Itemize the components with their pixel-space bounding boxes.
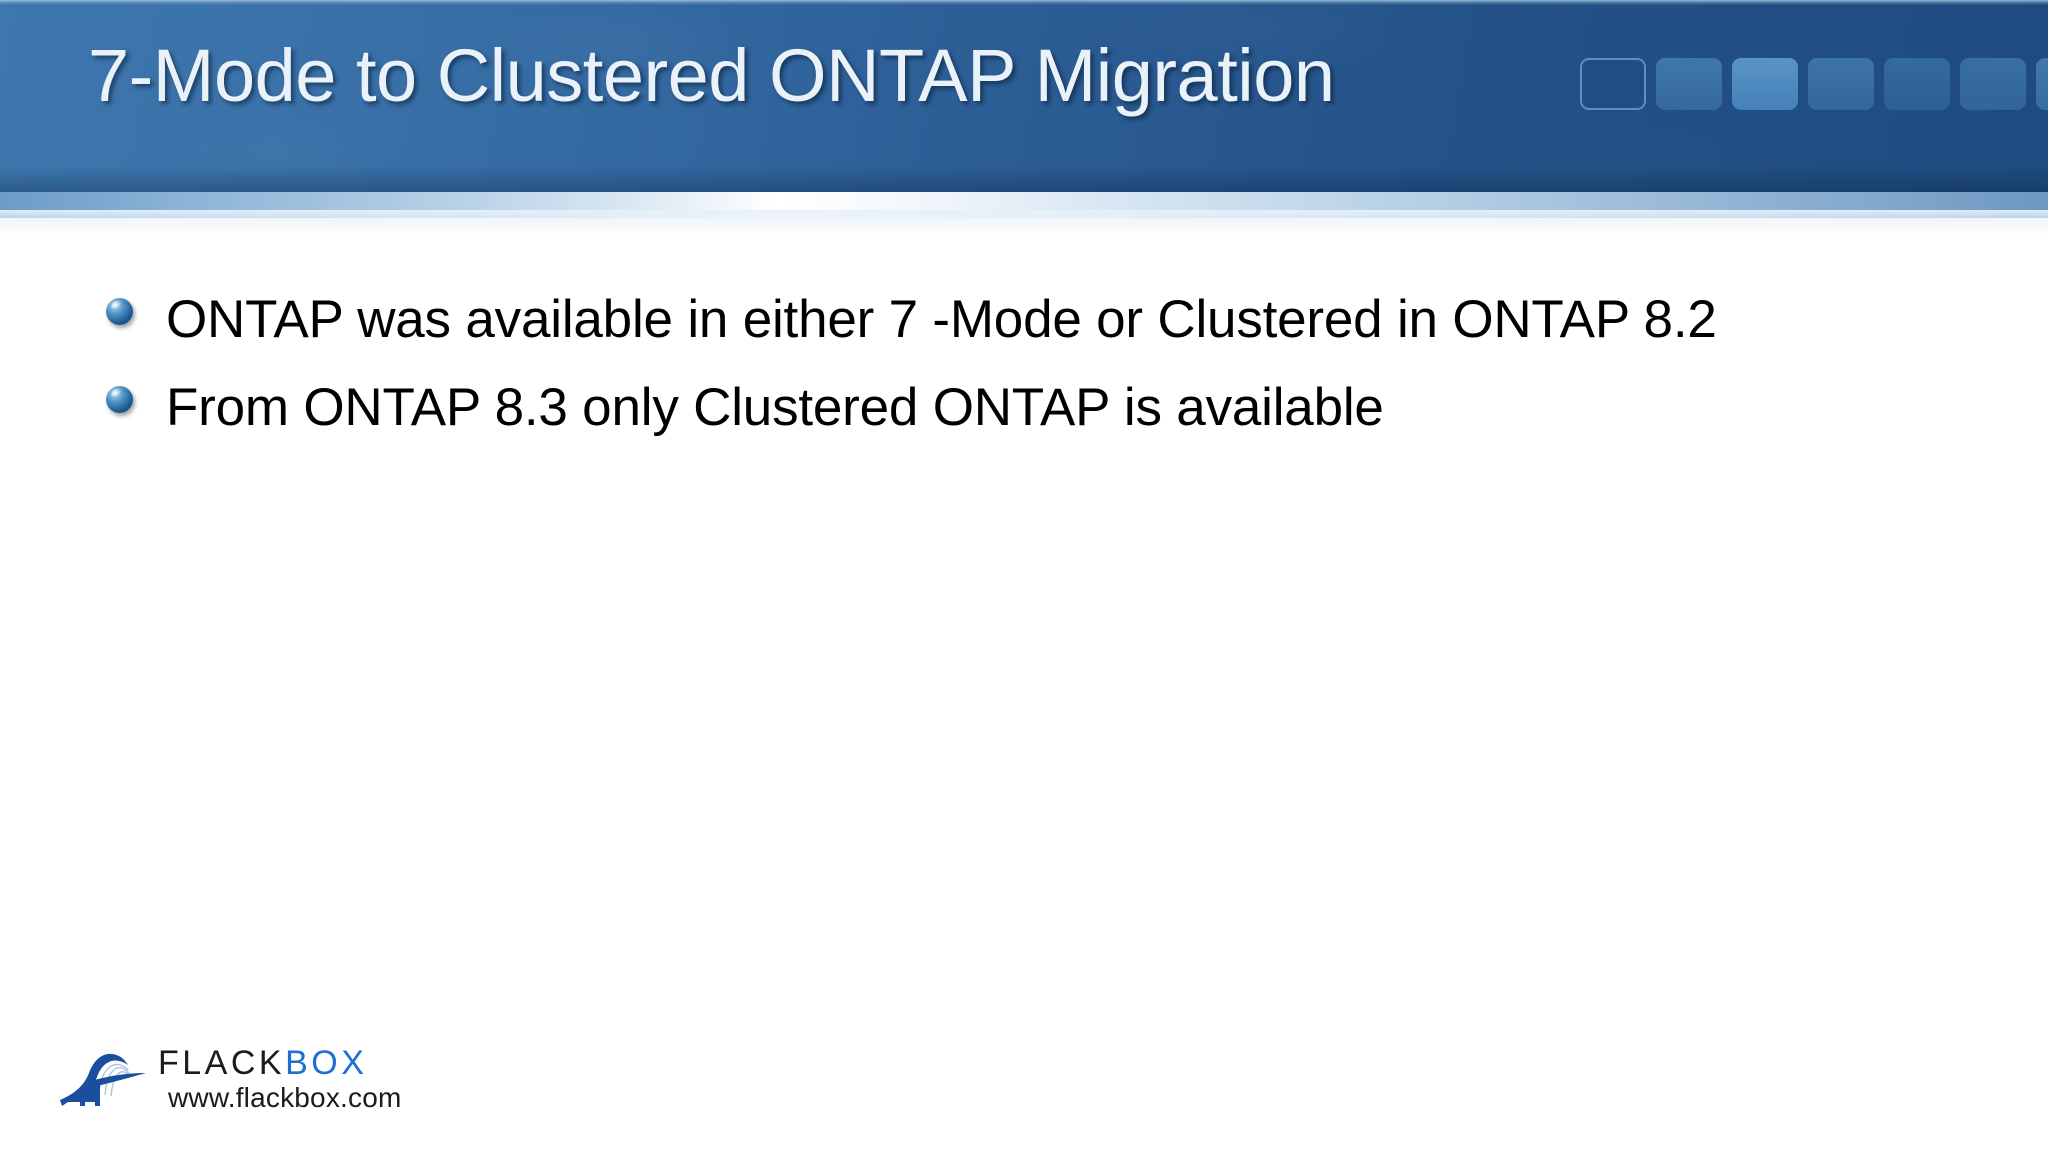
flackbox-logo[interactable]: FLACKBOX www.flackbox.com: [58, 1042, 398, 1122]
list-item: From ONTAP 8.3 only Clustered ONTAP is a…: [104, 370, 1954, 446]
list-item: ONTAP was available in either 7 -Mode or…: [104, 282, 1954, 358]
logo-word-primary: FLACK: [158, 1044, 285, 1082]
deco-square-6: [1960, 58, 2026, 110]
slide-canvas: 7-Mode to Clustered ONTAP Migration ONTA…: [0, 0, 2048, 1152]
header-top-highlight: [0, 0, 2048, 5]
header-decorative-squares: [1580, 58, 2048, 110]
bullet-text: ONTAP was available in either 7 -Mode or…: [166, 282, 1717, 358]
page-title: 7-Mode to Clustered ONTAP Migration: [88, 30, 1335, 122]
header-underglow-fade: [0, 210, 2048, 236]
deco-square-1: [1580, 58, 1646, 110]
deco-square-3: [1732, 58, 1798, 110]
blue-sphere-bullet-icon: [104, 384, 136, 416]
deco-square-7: [2036, 58, 2048, 110]
header-bottom-shadow: [0, 166, 2048, 192]
bullet-text: From ONTAP 8.3 only Clustered ONTAP is a…: [166, 370, 1384, 446]
bullet-list: ONTAP was available in either 7 -Mode or…: [104, 282, 1954, 458]
deco-square-5: [1884, 58, 1950, 110]
blue-sphere-bullet-icon: [104, 296, 136, 328]
deco-square-4: [1808, 58, 1874, 110]
deco-square-2: [1656, 58, 1722, 110]
logo-word-accent: BOX: [285, 1044, 367, 1082]
logo-wordmark: FLACKBOX: [158, 1044, 367, 1082]
logo-url: www.flackbox.com: [168, 1082, 402, 1114]
flackbox-bridge-icon: [58, 1046, 150, 1108]
